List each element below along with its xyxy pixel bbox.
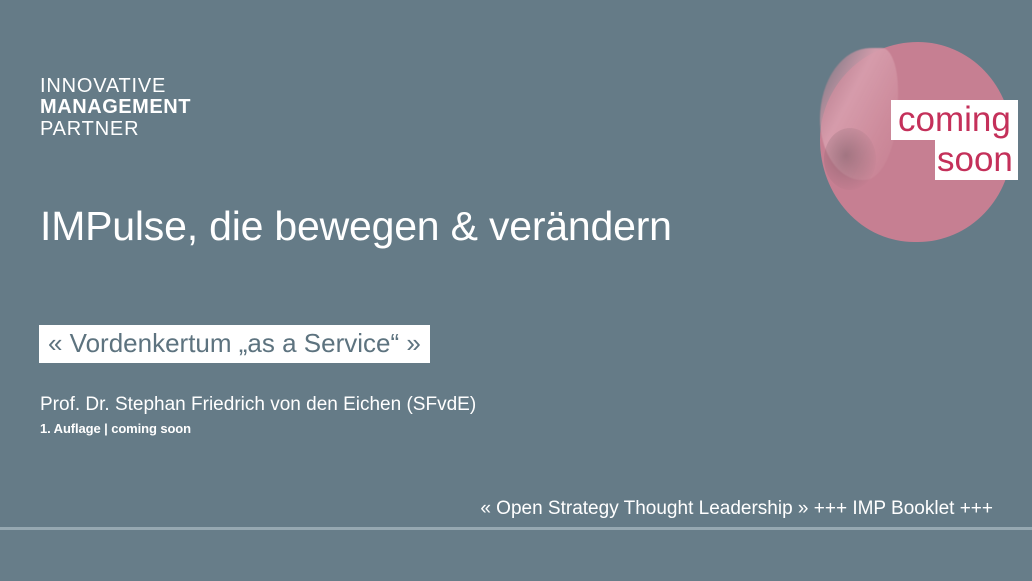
sticker-label-coming: coming bbox=[891, 100, 1018, 140]
quote-highlight: « Vordenkertum „as a Service“ » bbox=[39, 325, 430, 363]
company-logo: INNOVATIVE MANAGEMENT PARTNER bbox=[40, 76, 191, 140]
sticker-peel-shadow bbox=[824, 128, 876, 190]
coming-soon-sticker: coming soon bbox=[820, 42, 1012, 242]
author-name: Prof. Dr. Stephan Friedrich von den Eich… bbox=[40, 394, 476, 416]
footer-band bbox=[0, 530, 1032, 581]
logo-line-partner: PARTNER bbox=[40, 119, 191, 140]
author-edition-status: 1. Auflage | coming soon bbox=[40, 421, 191, 436]
logo-line-innovative: INNOVATIVE bbox=[40, 76, 191, 97]
footer-divider bbox=[0, 527, 1032, 530]
footer-tagline: « Open Strategy Thought Leadership » +++… bbox=[480, 498, 993, 520]
presentation-slide: INNOVATIVE MANAGEMENT PARTNER IMPulse, d… bbox=[0, 0, 1032, 581]
logo-line-management: MANAGEMENT bbox=[40, 97, 191, 118]
slide-headline: IMPulse, die bewegen & verändern bbox=[40, 203, 672, 250]
sticker-label-soon: soon bbox=[935, 140, 1018, 180]
